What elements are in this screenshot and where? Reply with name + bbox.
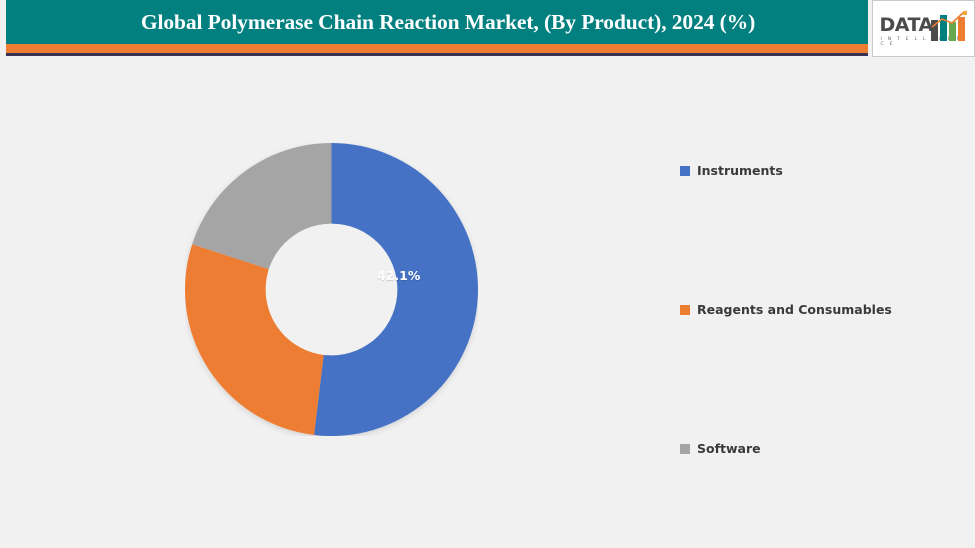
legend-item-reagents-and-consumables[interactable]: Reagents and Consumables — [680, 304, 892, 317]
page-title: Global Polymerase Chain Reaction Market,… — [6, 0, 868, 44]
logo-wordmark: DATA — [880, 14, 933, 36]
legend-label-instruments: Instruments — [697, 165, 783, 178]
donut-hole — [266, 224, 398, 356]
logo-inner: DATA I N T E L L I G E N C E — [878, 7, 970, 51]
chart-legend: Instruments Reagents and Consumables Sof… — [680, 58, 970, 548]
header-orange-stripe — [6, 44, 868, 53]
legend-item-instruments[interactable]: Instruments — [680, 165, 783, 178]
logo-bar-chart-icon — [930, 11, 968, 41]
legend-swatch-instruments — [680, 166, 690, 176]
donut-chart: 42.1% — [185, 143, 478, 436]
legend-label-software: Software — [697, 443, 761, 456]
slice-value-label-instruments: 42.1% — [377, 268, 420, 283]
chart-area: 42.1% Instruments Reagents and Consumabl… — [0, 58, 975, 548]
header-band: Global Polymerase Chain Reaction Market,… — [6, 0, 975, 58]
slide-canvas: Global Polymerase Chain Reaction Market,… — [0, 0, 975, 548]
legend-label-reagents-and-consumables: Reagents and Consumables — [697, 304, 892, 317]
legend-swatch-reagents-and-consumables — [680, 305, 690, 315]
brand-logo: DATA I N T E L L I G E N C E — [872, 0, 975, 57]
legend-item-software[interactable]: Software — [680, 443, 761, 456]
legend-swatch-software — [680, 444, 690, 454]
header-navy-rule — [6, 53, 868, 56]
donut-chart-svg — [185, 143, 478, 436]
